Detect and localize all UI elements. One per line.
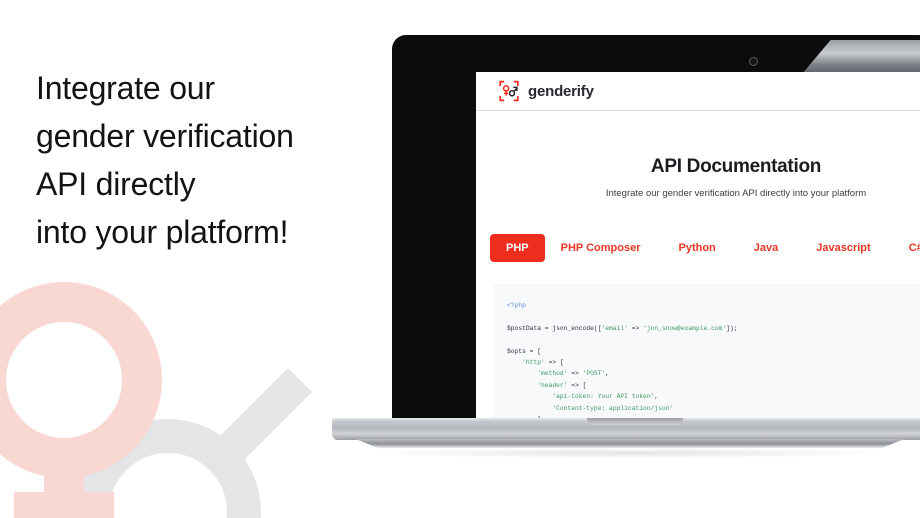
tab-java[interactable]: Java: [738, 234, 794, 262]
tab-php[interactable]: PHP: [490, 234, 545, 262]
code-line: 'api-token: Your API token',: [507, 391, 920, 402]
code-line: 'method' => 'POST',: [507, 368, 920, 379]
page-headline: Integrate our gender verification API di…: [36, 64, 376, 256]
code-line: $opts = [: [507, 346, 920, 357]
tab-javascript[interactable]: Javascript: [800, 234, 886, 262]
headline-line-1: Integrate our: [36, 64, 376, 112]
headline-line-3: API directly: [36, 160, 376, 208]
doc-title: API Documentation: [476, 156, 920, 178]
code-line: $postData = json_encode(['email' => 'jon…: [507, 323, 920, 334]
code-line: 'http' => [: [507, 357, 920, 368]
laptop-deck-notch: [587, 418, 683, 425]
site-header: genderify: [476, 72, 920, 111]
laptop-deck-lip: [344, 439, 916, 448]
code-line: <?php: [507, 300, 920, 311]
laptop-lid: genderify API Documentation Integrate ou…: [392, 35, 920, 420]
genderify-logo-icon: [498, 80, 520, 102]
tab-python[interactable]: Python: [663, 234, 732, 262]
laptop-deck: [332, 418, 920, 440]
laptop-base: [330, 418, 920, 454]
laptop-mockup: genderify API Documentation Integrate ou…: [330, 30, 920, 490]
site-logo[interactable]: genderify: [498, 80, 594, 102]
doc-subtitle: Integrate our gender verification API di…: [476, 188, 920, 199]
laptop-shadow: [370, 448, 890, 458]
code-line: 'header' => [: [507, 380, 920, 391]
venus-symbol-watermark: [0, 302, 142, 518]
site-body: API Documentation Integrate our gender v…: [476, 112, 920, 420]
code-snippet-block[interactable]: <?php $postData = json_encode(['email' =…: [493, 284, 920, 420]
laptop-lid-edge: [802, 40, 920, 74]
tab-csharp[interactable]: C#: [893, 234, 920, 262]
code-line: 'Content-type: application/json': [507, 403, 920, 414]
code-line: [507, 311, 920, 322]
language-tabs: PHP PHP Composer Python Java Javascript …: [476, 234, 920, 262]
webcam-dot-icon: [749, 57, 758, 66]
headline-line-2: gender verification: [36, 112, 376, 160]
tab-php-composer[interactable]: PHP Composer: [545, 234, 657, 262]
headline-line-4: into your platform!: [36, 208, 376, 256]
site-logo-text: genderify: [528, 83, 594, 100]
code-line: [507, 334, 920, 345]
laptop-screen: genderify API Documentation Integrate ou…: [476, 72, 920, 420]
